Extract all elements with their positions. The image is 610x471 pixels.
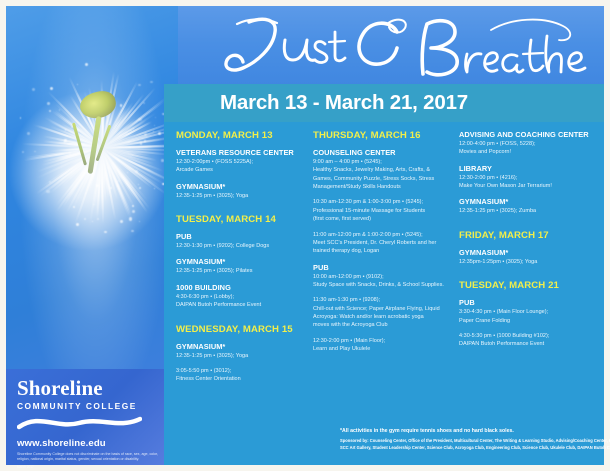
venue-library: LIBRARY bbox=[459, 164, 598, 173]
schedule-panel: MONDAY, MARCH 13 VETERANS RESOURCE CENTE… bbox=[164, 122, 604, 465]
dandelion-seed bbox=[138, 184, 139, 185]
sponsors-list: Sponsored by: Counseling Center, Office … bbox=[340, 438, 610, 451]
detail-advising-coaching-center: 12:00-4:00 pm • (FOSS, 5228); Movies and… bbox=[459, 140, 598, 157]
detail-gymnasium-mon: 12:35-1:25 pm • (3025); Yoga bbox=[176, 192, 307, 200]
venue-advising-coaching-center: ADVISING AND COACHING CENTER bbox=[459, 130, 598, 139]
venue-gymnasium-mon: GYMNASIUM* bbox=[176, 182, 307, 191]
venue-gymnasium-fri: GYMNASIUM* bbox=[459, 248, 598, 257]
logo-wave-icon bbox=[17, 415, 168, 436]
dandelion-seed bbox=[155, 117, 157, 119]
dandelion-seed bbox=[139, 187, 141, 189]
dandelion-seed bbox=[85, 63, 88, 66]
venue-gymnasium-thu: GYMNASIUM* bbox=[459, 197, 598, 206]
venue-veterans-resource-center: VETERANS RESOURCE CENTER bbox=[176, 148, 307, 157]
dandelion-seed bbox=[127, 172, 128, 173]
detail-president-therapy-dog: 11:00 am-12:00 pm & 1:00-2:00 pm • (5245… bbox=[313, 231, 453, 256]
poster-script-title bbox=[178, 8, 604, 90]
dandelion-seed bbox=[144, 140, 146, 142]
date-range-band: March 13 - March 21, 2017 bbox=[164, 84, 604, 122]
day-heading-thursday: THURSDAY, MARCH 16 bbox=[313, 130, 453, 141]
dandelion-seed bbox=[20, 117, 21, 118]
dandelion-seed bbox=[84, 218, 86, 220]
dandelion-seed bbox=[154, 188, 155, 189]
detail-gymnasium-wed: 12:35-1:25 pm • (3025); Yoga bbox=[176, 352, 307, 360]
dandelion-seed bbox=[143, 102, 145, 104]
dandelion-seed bbox=[140, 142, 143, 145]
schedule-column-1: MONDAY, MARCH 13 VETERANS RESOURCE CENTE… bbox=[176, 130, 313, 391]
schedule-column-2: THURSDAY, MARCH 16 COUNSELING CENTER 9:0… bbox=[313, 130, 459, 391]
dandelion-seed bbox=[135, 170, 137, 172]
dandelion-seed bbox=[59, 109, 61, 111]
dandelion-seed bbox=[27, 132, 30, 135]
dandelion-seed bbox=[92, 221, 93, 222]
dandelion-seed bbox=[158, 132, 161, 135]
logo-revision-date: March 2017 bbox=[17, 465, 168, 469]
detail-gymnasium-tue: 12:35-1:25 pm • (3025); Pilates bbox=[176, 267, 307, 275]
gym-footnote: *All activities in the gym require tenni… bbox=[340, 428, 610, 434]
date-range-text: March 13 - March 21, 2017 bbox=[220, 91, 468, 115]
detail-counseling-center: 9:00 am – 4:00 pm • (5245); Healthy Snac… bbox=[313, 158, 453, 191]
dandelion-seed bbox=[130, 130, 132, 132]
logo-wordmark: Shoreline bbox=[17, 378, 168, 399]
dandelion-seed bbox=[65, 129, 66, 130]
detail-massage: 10:30 am-12:30 pm & 1:00-3:00 pm • (5245… bbox=[313, 198, 453, 223]
dandelion-seed bbox=[139, 221, 140, 222]
detail-1000-building: 4:30-6:30 pm • (Lobby); DAIPAN Butoh Per… bbox=[176, 293, 307, 310]
venue-counseling-center: COUNSELING CENTER bbox=[313, 148, 453, 157]
venue-pub-tue21: PUB bbox=[459, 298, 598, 307]
logo-subtitle: COMMUNITY COLLEGE bbox=[17, 401, 168, 411]
venue-pub-thu: PUB bbox=[313, 263, 453, 272]
detail-veterans-resource-center: 12:30-2:00pm • (FOSS 5225A); Arcade Game… bbox=[176, 158, 307, 175]
dandelion-seed bbox=[32, 88, 35, 91]
college-logo-block: Shoreline COMMUNITY COLLEGE www.shorelin… bbox=[6, 369, 178, 465]
dandelion-seed bbox=[83, 172, 84, 173]
venue-gymnasium-tue: GYMNASIUM* bbox=[176, 257, 307, 266]
dandelion-seed bbox=[129, 217, 132, 220]
dandelion-seed bbox=[138, 84, 140, 86]
dandelion-seed bbox=[104, 231, 107, 234]
schedule-column-3: ADVISING AND COACHING CENTER 12:00-4:00 … bbox=[459, 130, 604, 391]
dandelion-seed bbox=[77, 84, 78, 85]
dandelion-seed bbox=[110, 187, 112, 189]
detail-pub-tue: 12:30-1:30 pm • (9202); College Dogs bbox=[176, 242, 307, 250]
dandelion-seed bbox=[47, 102, 50, 105]
day-heading-tuesday-21: TUESDAY, MARCH 21 bbox=[459, 280, 598, 291]
detail-ukulele: 12:30-2:00 pm • (Main Floor); Learn and … bbox=[313, 337, 453, 354]
detail-gymnasium-fri: 12:35pm-1:25pm • (3025); Yoga bbox=[459, 258, 598, 266]
logo-url[interactable]: www.shoreline.edu bbox=[17, 438, 168, 449]
detail-gymnasium-thu: 12:35-1:25 pm • (3025); Zumba bbox=[459, 207, 598, 215]
dandelion-seed bbox=[117, 180, 119, 182]
dandelion-seed bbox=[132, 210, 135, 213]
venue-gymnasium-wed: GYMNASIUM* bbox=[176, 342, 307, 351]
detail-pub-study-space: 10:00 am-12:00 pm • (9102); Study Space … bbox=[313, 273, 453, 290]
dandelion-seed bbox=[154, 125, 155, 126]
dandelion-seed bbox=[120, 220, 123, 223]
dandelion-seed bbox=[50, 87, 53, 90]
dandelion-seed bbox=[97, 218, 98, 219]
dandelion-seed bbox=[150, 81, 152, 83]
day-heading-tuesday-14: TUESDAY, MARCH 14 bbox=[176, 214, 307, 225]
poster-footer: *All activities in the gym require tenni… bbox=[340, 428, 610, 451]
day-heading-wednesday: WEDNESDAY, MARCH 15 bbox=[176, 324, 307, 335]
detail-fitness-center-orientation: 3:05-5:50 pm • (3012); Fitness Center Or… bbox=[176, 367, 307, 384]
dandelion-seed bbox=[76, 223, 79, 226]
dandelion-seed bbox=[96, 184, 99, 187]
day-heading-friday: FRIDAY, MARCH 17 bbox=[459, 230, 598, 241]
dandelion-seed bbox=[22, 151, 24, 153]
venue-pub-tue: PUB bbox=[176, 232, 307, 241]
dandelion-seed bbox=[69, 152, 71, 154]
dandelion-seed bbox=[46, 190, 49, 193]
schedule-columns: MONDAY, MARCH 13 VETERANS RESOURCE CENTE… bbox=[176, 130, 604, 391]
detail-library: 12:30-2:00 pm • (4216); Make Your Own Ma… bbox=[459, 174, 598, 191]
dandelion-seed bbox=[34, 151, 35, 152]
dandelion-seed bbox=[73, 206, 75, 208]
day-heading-monday: MONDAY, MARCH 13 bbox=[176, 130, 307, 141]
dandelion-seed bbox=[49, 181, 51, 183]
poster-root: Shoreline COMMUNITY COLLEGE www.shorelin… bbox=[0, 0, 610, 471]
nondiscrimination-disclaimer: Shoreline Community College does not dis… bbox=[17, 452, 167, 462]
dandelion-seed bbox=[131, 230, 134, 233]
detail-daipan-butoh: 4:30-5:30 pm • (1000 Building #102); DAI… bbox=[459, 332, 598, 349]
venue-1000-building: 1000 BUILDING bbox=[176, 283, 307, 292]
detail-paper-crane-folding: 3:30-4:30 pm • (Main Floor Lounge); Pape… bbox=[459, 308, 598, 325]
detail-chill-out-science: 11:30 am-1:30 pm • (9208); Chill-out wit… bbox=[313, 296, 453, 329]
